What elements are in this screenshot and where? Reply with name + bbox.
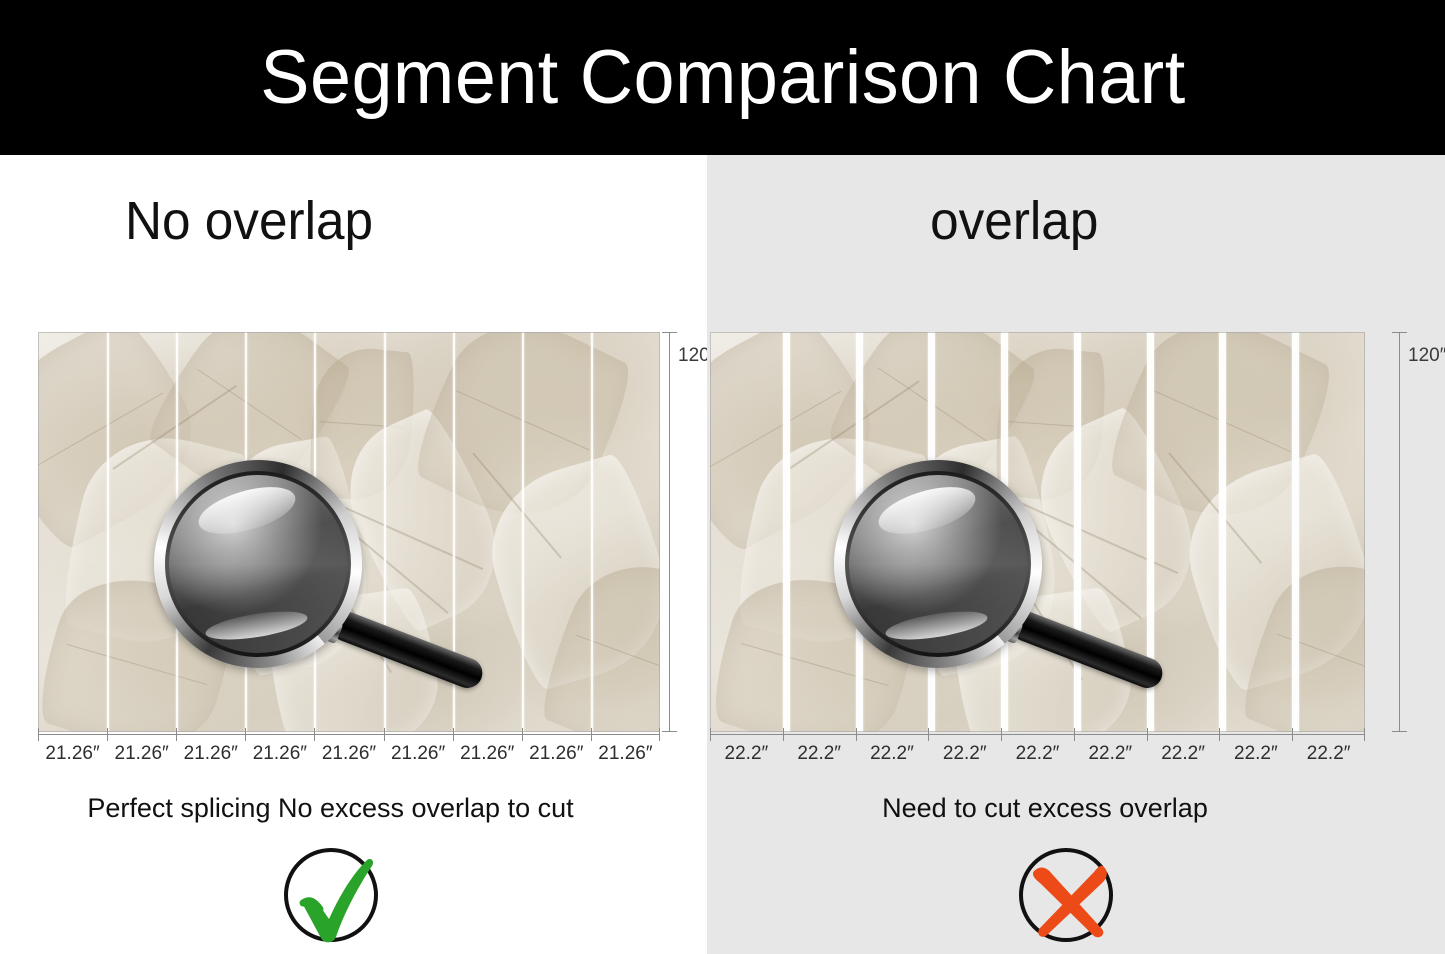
width-dimension-strip: 21.26″ 21.26″ 21.26″ 21.26″ 21.26″ 21.26… — [38, 734, 660, 770]
panel-no-overlap: No overlap — [0, 155, 707, 954]
height-dimension-line — [1399, 332, 1400, 732]
dimension-cell: 22.2″ — [783, 734, 856, 770]
panel-heading-no-overlap: No overlap — [18, 193, 690, 250]
seam-line — [928, 332, 935, 732]
mural-artwork — [38, 332, 660, 732]
seam-line — [1219, 332, 1226, 732]
dimension-cell: 21.26″ — [107, 734, 176, 770]
height-dimension-line — [669, 332, 670, 732]
seam-line — [856, 332, 863, 732]
seam-line — [1147, 332, 1154, 732]
mural-no-overlap — [38, 332, 660, 732]
dimension-cell: 22.2″ — [1074, 734, 1147, 770]
height-dimension-label: 120″ — [1408, 345, 1445, 367]
seam-line — [783, 332, 790, 732]
mural-overlap — [710, 332, 1365, 732]
seam-line — [1292, 332, 1299, 732]
panel-overlap: overlap — [707, 155, 1445, 954]
seam-line — [1074, 332, 1081, 732]
infographic-page: Segment Comparison Chart No overlap — [0, 0, 1445, 954]
dimension-cell: 21.26″ — [453, 734, 522, 770]
check-mark — [279, 843, 389, 953]
caption-no-overlap: Perfect splicing No excess overlap to cu… — [0, 792, 707, 824]
caption-overlap: Need to cut excess overlap — [707, 792, 1445, 824]
dimension-cell: 21.26″ — [522, 734, 591, 770]
seam-line — [107, 332, 109, 732]
dimension-cell: 22.2″ — [1147, 734, 1220, 770]
dimension-cell: 22.2″ — [856, 734, 929, 770]
panel-heading-overlap: overlap — [725, 193, 1426, 250]
seam-line — [176, 332, 178, 732]
check-icon — [279, 843, 389, 953]
comparison-panels: No overlap — [0, 155, 1445, 954]
mural-artwork — [710, 332, 1365, 732]
dimension-cell: 21.26″ — [38, 734, 107, 770]
seam-line — [314, 332, 316, 732]
cross-icon — [1014, 843, 1124, 953]
seam-line — [591, 332, 593, 732]
page-title: Segment Comparison Chart — [260, 40, 1185, 116]
width-dimension-strip: 22.2″ 22.2″ 22.2″ 22.2″ 22.2″ 22.2″ 22.2… — [710, 734, 1365, 770]
dimension-cell: 22.2″ — [928, 734, 1001, 770]
seam-line — [245, 332, 247, 732]
dimension-cell: 22.2″ — [1001, 734, 1074, 770]
seam-line — [384, 332, 386, 732]
dimension-cell: 21.26″ — [245, 734, 314, 770]
seam-line — [453, 332, 455, 732]
dimension-cell: 21.26″ — [314, 734, 383, 770]
title-banner: Segment Comparison Chart — [0, 0, 1445, 155]
dimension-cell: 21.26″ — [176, 734, 245, 770]
dimension-cell: 22.2″ — [1292, 734, 1365, 770]
dimension-cell: 21.26″ — [591, 734, 660, 770]
seam-line — [1001, 332, 1008, 732]
dimension-cell: 21.26″ — [384, 734, 453, 770]
dimension-cell: 22.2″ — [710, 734, 783, 770]
seam-line — [522, 332, 524, 732]
cross-mark — [1014, 843, 1124, 953]
dimension-cell: 22.2″ — [1219, 734, 1292, 770]
